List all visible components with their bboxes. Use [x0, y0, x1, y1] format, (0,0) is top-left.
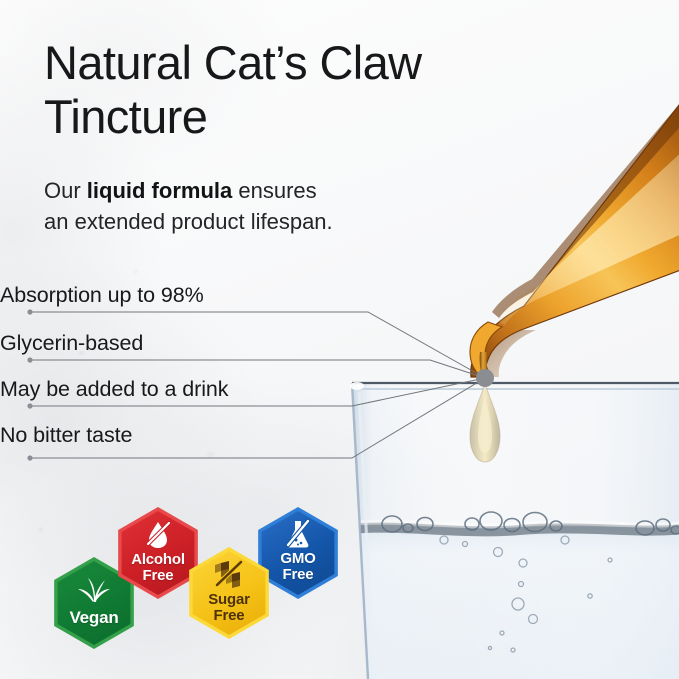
feature-item-taste: No bitter taste: [0, 423, 132, 448]
product-infographic: Natural Cat’s Claw Tincture Our liquid f…: [0, 0, 679, 679]
badge-sugar-free[interactable]: Sugar Free: [183, 547, 275, 639]
feature-item-absorption: Absorption up to 98%: [0, 283, 204, 308]
flask-crossed-icon: [252, 519, 344, 549]
feature-item-drink: May be added to a drink: [0, 377, 228, 402]
droplet-crossed-icon: [112, 520, 204, 550]
feature-item-glycerin: Glycerin-based: [0, 331, 143, 356]
sugar-cubes-crossed-icon: [183, 560, 275, 588]
badge-sugar-label-1: Sugar: [183, 592, 275, 607]
badge-sugar-label-2: Free: [183, 608, 275, 623]
badge-vegan-label: Vegan: [48, 609, 140, 626]
